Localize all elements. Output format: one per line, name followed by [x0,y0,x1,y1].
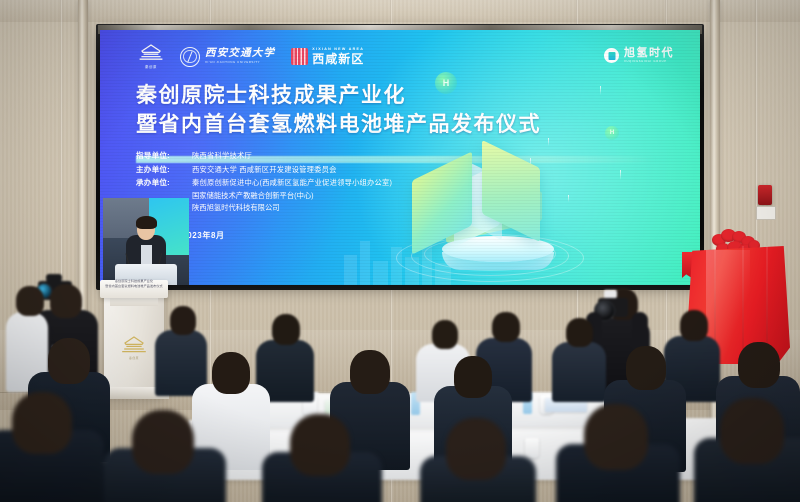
attendee-head [170,306,196,335]
led-screen: 秦创原 西安交通大学 XI'AN JIAOTONG UNIVERSITY XIX… [100,30,700,285]
videographer-head [50,284,82,318]
dslr-flash [604,290,617,298]
lectern-neck [110,298,158,306]
speaker-hair [136,216,157,229]
attendee-head [446,418,506,480]
lectern-title-block: 秦创原院士科技成果产业化 暨省内首台套氢燃料电池堆产品发布仪式 [104,279,164,289]
attendee-head [680,310,708,341]
tea-cup-8 [525,438,539,458]
lectern-title-line-2: 暨省内首台套氢燃料电池堆产品发布仪式 [104,284,164,289]
attendee-head [566,318,593,347]
assistant-head [16,286,44,316]
screen-scanline-overlay [100,30,700,285]
attendee-head [738,342,780,388]
attendee-head [584,404,648,470]
video-camera-hood [46,274,62,282]
attendee-head [290,414,350,476]
attendee-head [272,314,300,345]
attendee-head [48,338,90,384]
attendee-head [132,410,194,474]
attendee-head [12,392,72,454]
attendee-head [350,350,390,394]
attendee-head [454,356,492,398]
live-speaker-feed [103,198,189,285]
lectern-emblem-icon [119,335,149,355]
fire-alarm-icon [758,185,772,205]
wall-band-upper [0,0,800,22]
lectern-emblem-label: 秦创原 [129,356,139,360]
attendee-torso [552,342,606,402]
attendee-head [432,320,458,349]
fire-alarm-label [756,206,776,220]
conference-photo-scene: 秦创原 西安交通大学 XI'AN JIAOTONG UNIVERSITY XIX… [0,0,800,502]
lectern-top: 秦创原院士科技成果产业化 暨省内首台套氢燃料电池堆产品发布仪式 [100,280,168,298]
attendee-head [720,398,784,464]
attendee-head [626,346,666,390]
attendee-head [492,312,520,342]
attendee-head [212,352,250,394]
